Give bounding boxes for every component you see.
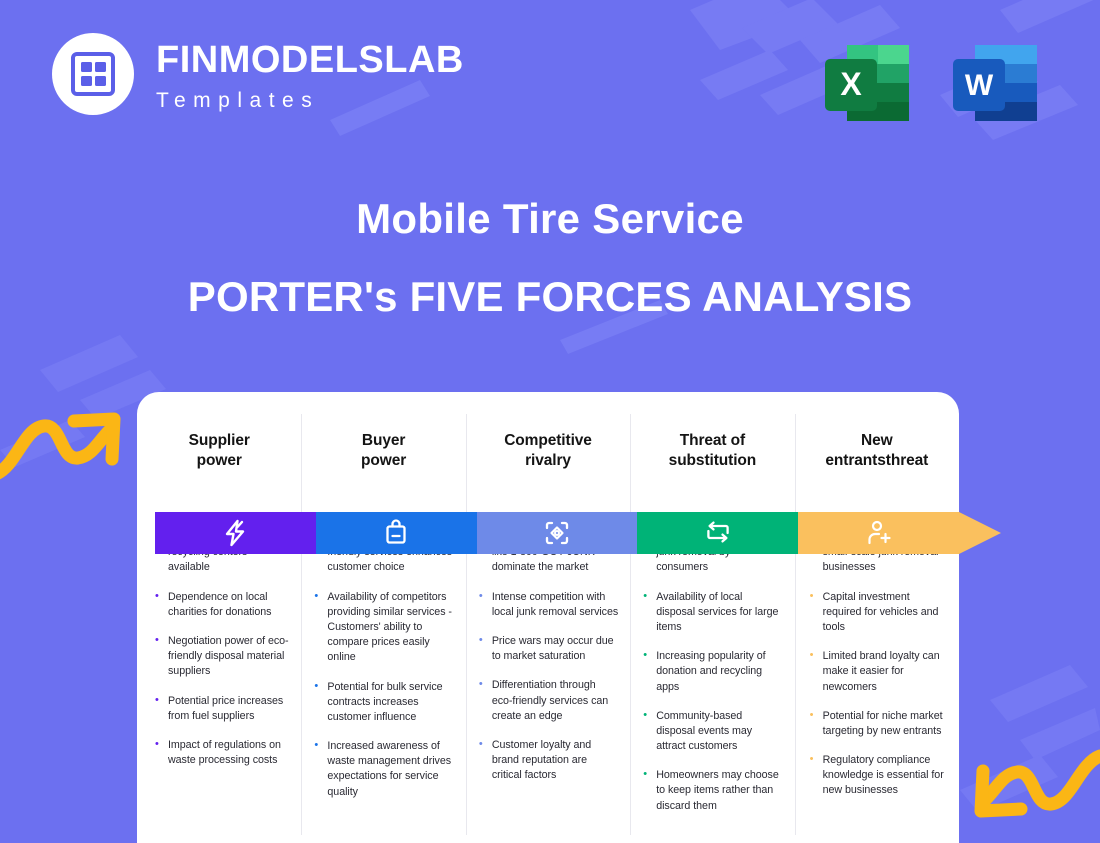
point-item: Limited brand loyalty can make it easier… [809, 649, 949, 695]
points-list-competitive-rivalry: Established competitors like 1-800-GOT-J… [478, 530, 618, 783]
points-list-supplier-power: Limited number of recycling centers avai… [154, 530, 291, 768]
page-subtitle: PORTER's FIVE FORCES ANALYSIS [0, 274, 1100, 320]
column-divider [795, 414, 796, 835]
column-title-line1: Supplier [189, 432, 250, 449]
column-title-line2: power [197, 452, 242, 469]
grid-squares-icon [71, 52, 115, 96]
force-column-supplier-power[interactable]: Supplier power Limited number of recycli… [137, 392, 301, 843]
band-buyer-power[interactable] [316, 512, 477, 554]
point-item: Homeowners may choose to keep items rath… [642, 768, 782, 814]
excel-icon: X [817, 37, 917, 129]
column-header-buyer-power: Buyer power [301, 392, 465, 476]
points-list-threat-of-substitution: Alternative options like DIY junk remova… [642, 530, 782, 814]
point-item: Negotiation power of eco-friendly dispos… [154, 634, 291, 680]
column-title-line2: substitution [669, 452, 756, 469]
brand-subtitle: Templates [156, 90, 464, 111]
page-header: FINMODELSLAB Templates X [0, 0, 1100, 160]
band-threat-of-substitution[interactable] [637, 512, 798, 554]
column-header-supplier-power: Supplier power [137, 392, 301, 476]
brand-logo: FINMODELSLAB Templates [52, 33, 464, 115]
point-item: Regulatory compliance knowledge is essen… [809, 753, 949, 799]
point-item: Differentiation through eco-friendly ser… [478, 678, 618, 724]
office-format-icons: X W [817, 33, 1045, 129]
squiggle-arrow-up-right-icon [0, 408, 124, 488]
add-user-icon [865, 519, 893, 547]
lightning-bolt-icon [222, 519, 248, 547]
force-icon-band [155, 512, 959, 554]
force-column-competitive-rivalry[interactable]: Competitive rivalry Established competit… [466, 392, 630, 843]
point-item: Increased awareness of waste management … [313, 739, 453, 800]
column-title-line1: Competitive [504, 432, 592, 449]
svg-text:W: W [965, 69, 994, 102]
point-item: Intense competition with local junk remo… [478, 590, 618, 620]
column-header-competitive-rivalry: Competitive rivalry [466, 392, 630, 476]
column-header-new-entrants-threat: New entrantsthreat [795, 392, 959, 476]
points-list-buyer-power: High demand for eco-friendly services en… [313, 530, 453, 800]
column-title-line2: power [361, 452, 406, 469]
point-item: Increasing popularity of donation and re… [642, 649, 782, 695]
svg-text:X: X [840, 66, 862, 102]
exchange-arrows-icon [704, 520, 732, 546]
page-title: Mobile Tire Service [0, 196, 1100, 242]
column-divider [301, 414, 302, 835]
band-supplier-power[interactable] [155, 512, 316, 554]
column-divider [466, 414, 467, 835]
squiggle-arrow-down-left-icon [967, 742, 1100, 827]
column-title-line1: New [861, 432, 893, 449]
band-new-entrants-threat[interactable] [798, 512, 959, 554]
point-item: Potential for niche market targeting by … [809, 709, 949, 739]
column-title-line2: rivalry [525, 452, 571, 469]
column-header-threat-of-substitution: Threat of substitution [630, 392, 794, 476]
band-arrow-tip [959, 502, 1001, 564]
point-item: Availability of local disposal services … [642, 590, 782, 636]
point-item: Potential price increases from fuel supp… [154, 694, 291, 724]
point-item: Impact of regulations on waste processin… [154, 738, 291, 768]
brand-name: FINMODELSLAB [156, 41, 464, 79]
point-item: Dependence on local charities for donati… [154, 590, 291, 620]
column-title-line1: Threat of [680, 432, 745, 449]
target-focus-icon [543, 519, 571, 547]
point-item: Price wars may occur due to market satur… [478, 634, 618, 664]
porters-five-forces-card: Supplier power Limited number of recycli… [137, 392, 959, 843]
shopping-bag-icon [383, 519, 409, 547]
points-list-new-entrants-threat: Low barriers to entry for small-scale ju… [809, 530, 949, 799]
point-item: Availability of competitors providing si… [313, 590, 453, 666]
force-column-new-entrants-threat[interactable]: New entrantsthreat Low barriers to entry… [795, 392, 959, 843]
column-title-line1: Buyer [362, 432, 405, 449]
point-item: Customer loyalty and brand reputation ar… [478, 738, 618, 784]
point-item: Community-based disposal events may attr… [642, 709, 782, 755]
column-divider [630, 414, 631, 835]
force-column-threat-of-substitution[interactable]: Threat of substitution Alternative optio… [630, 392, 794, 843]
force-column-buyer-power[interactable]: Buyer power High demand for eco-friendly… [301, 392, 465, 843]
point-item: Capital investment required for vehicles… [809, 590, 949, 636]
column-title-line2: entrantsthreat [825, 452, 928, 469]
forces-table: Supplier power Limited number of recycli… [137, 392, 959, 843]
logo-badge [52, 33, 134, 115]
point-item: Potential for bulk service contracts inc… [313, 680, 453, 726]
word-icon: W [945, 37, 1045, 129]
title-block: Mobile Tire Service PORTER's FIVE FORCES… [0, 196, 1100, 320]
brand-text: FINMODELSLAB Templates [156, 37, 464, 111]
band-competitive-rivalry[interactable] [477, 512, 638, 554]
